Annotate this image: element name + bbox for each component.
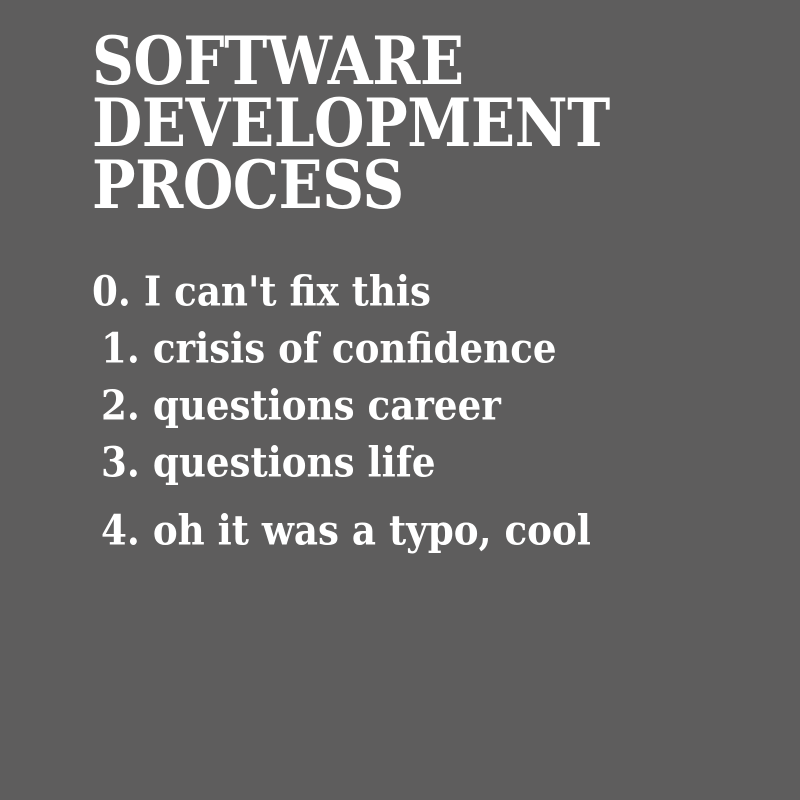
list-item-separator: . bbox=[127, 506, 140, 555]
poster-title: SOFTWARE DEVELOPMENT PROCESS bbox=[92, 28, 732, 214]
list-item-number: 2 bbox=[101, 381, 127, 430]
poster-canvas: SOFTWARE DEVELOPMENT PROCESS 0. I can't … bbox=[0, 0, 800, 800]
list-item: 3. questions life bbox=[101, 433, 706, 492]
list-item-number: 0 bbox=[92, 267, 118, 316]
list-item-label: crisis of confidence bbox=[153, 324, 557, 373]
list-item-label: oh it was a typo, cool bbox=[153, 506, 591, 555]
list-item-number: 1 bbox=[101, 324, 127, 373]
list-item-label: questions life bbox=[153, 438, 436, 487]
list-item: 2. questions career bbox=[101, 376, 706, 435]
list-item-number: 4 bbox=[101, 506, 127, 555]
list-item: 4. oh it was a typo, cool bbox=[101, 501, 706, 560]
list-item-separator: . bbox=[127, 438, 140, 487]
list-item: 1. crisis of confidence bbox=[101, 319, 706, 378]
list-item-separator: . bbox=[118, 267, 131, 316]
list-item-label: questions career bbox=[153, 381, 501, 430]
list-item-number: 3 bbox=[101, 438, 127, 487]
list-item: 0. I can't fix this bbox=[92, 262, 706, 321]
title-line-3: PROCESS bbox=[92, 152, 681, 218]
list-item-label: I can't fix this bbox=[144, 267, 431, 316]
list-item-separator: . bbox=[127, 324, 140, 373]
list-item-separator: . bbox=[127, 381, 140, 430]
process-step-list: 0. I can't fix this 1. crisis of confide… bbox=[92, 262, 752, 558]
